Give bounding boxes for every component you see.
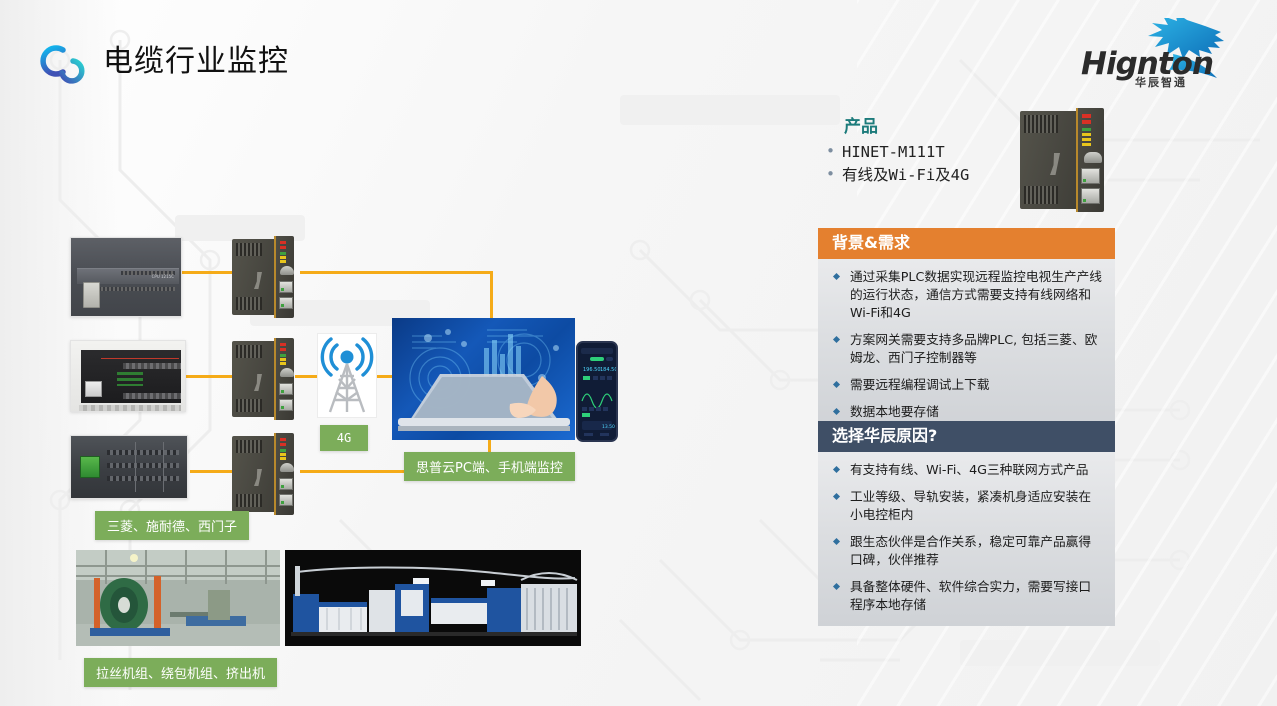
list-item: 有线及Wi-Fi及4G	[826, 164, 1026, 187]
brand-chinese-name: 华辰智通	[1135, 74, 1187, 90]
svg-text:13.50: 13.50	[602, 424, 615, 430]
interlocking-circles-logo	[33, 31, 91, 89]
gateway-device-top	[232, 236, 294, 318]
panel-body: 有支持有线、Wi-Fi、4G三种联网方式产品 工业等级、导轨安装，紧凑机身适应安…	[818, 452, 1115, 626]
gateway-device-middle	[232, 338, 294, 420]
tag-machines: 拉丝机组、绕包机组、挤出机	[84, 658, 277, 687]
list-item: 跟生态伙伴是合作关系，稳定可靠产品赢得口碑，伙伴推荐	[828, 533, 1103, 569]
wire-gateway2-to-tower	[295, 375, 319, 378]
mobile-monitoring-app-photo: 196.50 184.50 13.50	[576, 341, 618, 442]
schneider-plc-photo	[70, 435, 188, 499]
gateway-device-bottom	[232, 433, 294, 515]
list-item: 通过采集PLC数据实现远程监控电视生产产线的运行状态，通信方式需要支持有线网络和…	[828, 268, 1103, 322]
cell-tower-4g-icon	[317, 333, 377, 418]
slide-canvas: 电缆行业监控 Hignton 华辰智通 产品 HINET-M111T 有线及Wi…	[0, 0, 1277, 706]
wire-plc1-to-gateway1	[182, 271, 234, 274]
wire-plc3-to-gateway3	[190, 470, 234, 473]
panel-background-requirements: 背景&需求 通过采集PLC数据实现远程监控电视生产产线的运行状态，通信方式需要支…	[818, 228, 1115, 433]
wire-gateway1-to-cloud-h	[300, 271, 492, 274]
list-item: 具备整体硬件、软件综合实力，需要写接口程序本地存储	[828, 578, 1103, 614]
svg-text:196.50: 196.50	[583, 367, 601, 373]
extrusion-production-line-photo	[285, 550, 581, 646]
brand-logo: Hignton 华辰智通	[1077, 18, 1259, 92]
list-item: 方案网关需要支持多品牌PLC, 包括三菱、欧姆龙、西门子控制器等	[828, 331, 1103, 367]
list-item: 工业等级、导轨安装，紧凑机身适应安装在小电控柜内	[828, 488, 1103, 524]
laptop-dashboard-photo	[392, 318, 575, 440]
hinet-m111t-gateway-photo	[1020, 108, 1104, 212]
mitsubishi-plc-photo	[70, 340, 186, 412]
tag-plc-brands: 三菱、施耐德、西门子	[95, 511, 249, 540]
cable-winding-factory-photo	[76, 550, 280, 646]
list-item: HINET-M111T	[826, 141, 1026, 164]
list-item: 数据本地要存储	[828, 403, 1103, 421]
page-title: 电缆行业监控	[103, 36, 289, 80]
wire-plc2-to-gateway2	[182, 375, 234, 378]
svg-text:184.50: 184.50	[600, 367, 616, 373]
product-block: 产品 HINET-M111T 有线及Wi-Fi及4G	[826, 112, 1026, 188]
badge-4g: 4G	[320, 425, 368, 451]
tag-cloud-monitoring: 思普云PC端、手机端监控	[404, 452, 575, 481]
siemens-plc-photo: CPU 1215C	[70, 237, 182, 317]
panel-body: 通过采集PLC数据实现远程监控电视生产产线的运行状态，通信方式需要支持有线网络和…	[818, 259, 1115, 433]
panel-title: 背景&需求	[818, 228, 1115, 259]
product-heading: 产品	[844, 112, 1026, 137]
product-list: HINET-M111T 有线及Wi-Fi及4G	[826, 141, 1026, 188]
panel-why-hignton: 选择华辰原因? 有支持有线、Wi-Fi、4G三种联网方式产品 工业等级、导轨安装…	[818, 421, 1115, 626]
list-item: 需要远程编程调试上下载	[828, 376, 1103, 394]
panel-title: 选择华辰原因?	[818, 421, 1115, 452]
list-item: 有支持有线、Wi-Fi、4G三种联网方式产品	[828, 461, 1103, 479]
